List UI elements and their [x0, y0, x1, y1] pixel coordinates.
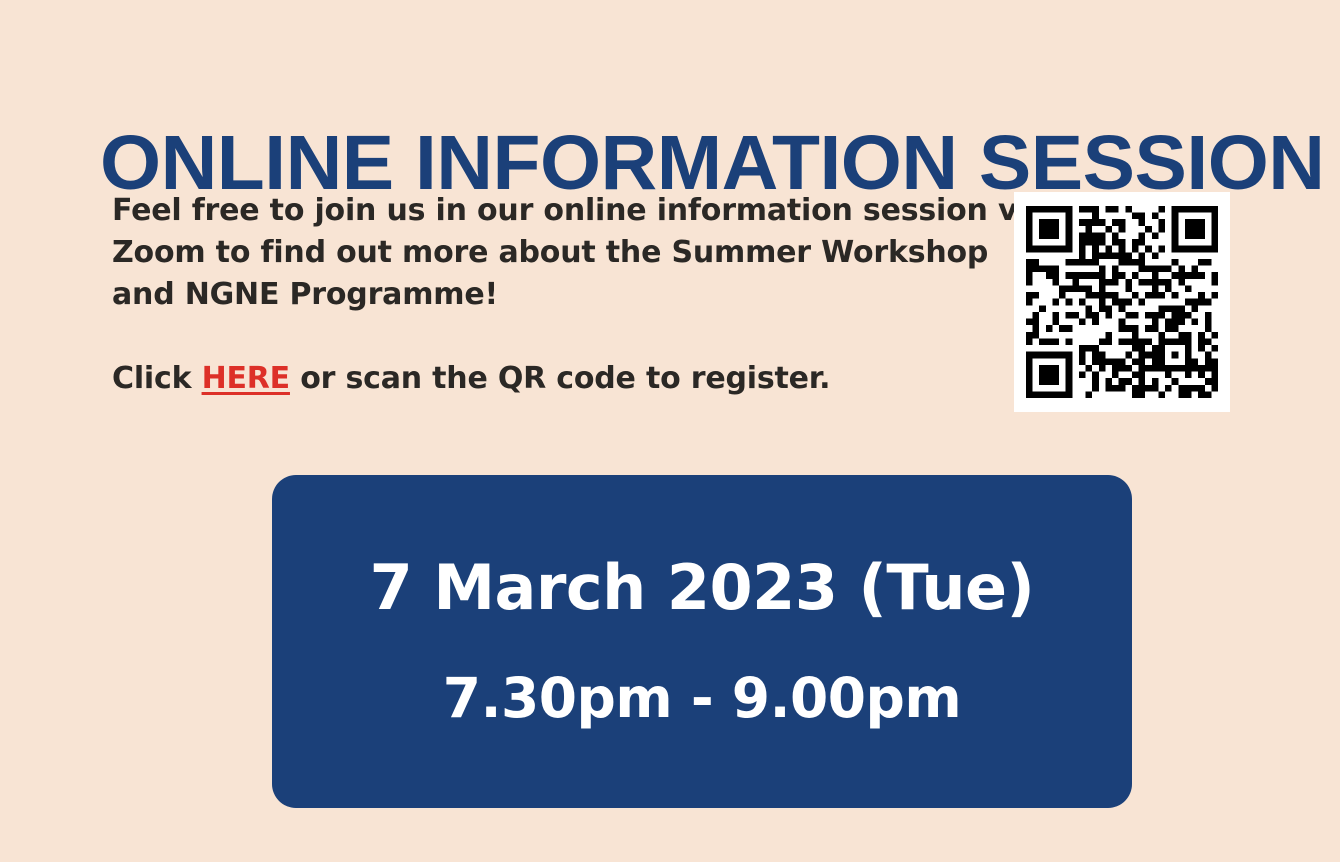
- description-line-1: Feel free to join us in our online infor…: [112, 190, 992, 232]
- event-time: 7.30pm - 9.00pm: [443, 671, 961, 726]
- cta-prefix-text: Click: [112, 361, 202, 396]
- schedule-panel: 7 March 2023 (Tue) 7.30pm - 9.00pm: [272, 475, 1132, 808]
- register-here-link[interactable]: HERE: [202, 361, 290, 396]
- register-cta-line: Click HERE or scan the QR code to regist…: [112, 358, 992, 400]
- qr-code-icon[interactable]: [1026, 206, 1218, 398]
- qr-code-card[interactable]: [1014, 192, 1230, 412]
- cta-suffix-text: or scan the QR code to register.: [290, 361, 830, 396]
- register-cta-block: Click HERE or scan the QR code to regist…: [112, 358, 992, 400]
- event-date: 7 March 2023 (Tue): [370, 557, 1035, 619]
- poster-root: ONLINE INFORMATION SESSION Feel free to …: [0, 0, 1340, 862]
- description-block: Feel free to join us in our online infor…: [112, 190, 992, 316]
- description-line-3: and NGNE Programme!: [112, 274, 992, 316]
- description-line-2: Zoom to find out more about the Summer W…: [112, 232, 992, 274]
